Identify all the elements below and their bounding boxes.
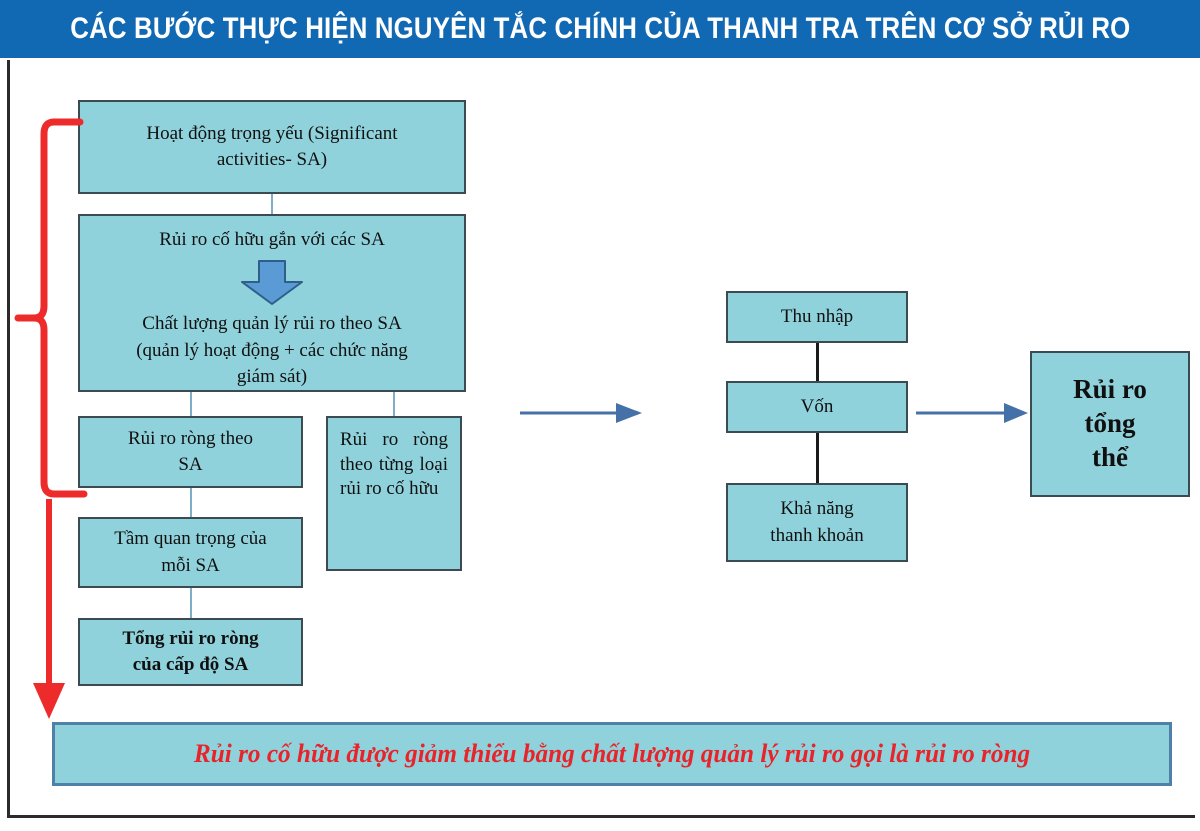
node-text: Thu nhập (781, 305, 853, 329)
node-line: Khả năng (780, 497, 853, 521)
node-net-risk-by-inherent-risk-type[interactable]: Rủi ro ròng theo từng loại rủi ro cố hữu (326, 416, 462, 571)
down-arrow-icon (239, 260, 305, 306)
connector-to-net-risk-type (393, 392, 395, 416)
node-liquidity[interactable]: Khả năng thanh khoản (726, 483, 908, 562)
node-line: SA (178, 453, 202, 477)
frame-bottom-border (7, 815, 1195, 818)
node-line: của cấp độ SA (133, 653, 249, 677)
node-line: Rủi ro ròng theo (128, 427, 253, 451)
node-inherent-risk-and-quality[interactable]: Rủi ro cố hữu gắn với các SA Chất lượng … (78, 214, 466, 392)
node-line: mỗi SA (161, 554, 220, 578)
title-banner: CÁC BƯỚC THỰC HIỆN NGUYÊN TẮC CHÍNH CỦA … (0, 0, 1200, 58)
node-line: Hoạt động trọng yếu (Significant (146, 122, 397, 146)
node-text: Rủi ro ròng theo từng loại rủi ro cố hữu (340, 429, 448, 499)
flow-arrow-left-to-right (520, 400, 644, 426)
node-line: thể (1092, 442, 1128, 474)
node-line: Rủi ro cố hữu gắn với các SA (159, 228, 385, 252)
frame-left-border (7, 60, 10, 818)
connector-to-net-risk-sa (190, 392, 192, 416)
node-importance-of-each-sa[interactable]: Tầm quan trọng của mỗi SA (78, 517, 303, 588)
connector-importance-to-total (190, 588, 192, 618)
red-grouping-brace (14, 110, 94, 510)
diagram-page: CÁC BƯỚC THỰC HIỆN NGUYÊN TẮC CHÍNH CỦA … (0, 0, 1200, 831)
node-text: Vốn (801, 395, 834, 419)
node-line: giám sát) (237, 365, 307, 389)
red-flow-arrow-down (28, 495, 72, 723)
node-total-net-risk-sa-level[interactable]: Tổng rủi ro ròng của cấp độ SA (78, 618, 303, 686)
connector-capital-to-liquidity (816, 433, 819, 483)
node-line: Tầm quan trọng của (114, 527, 266, 551)
node-line: tổng (1084, 408, 1135, 440)
footer-banner-text: Rủi ro cố hữu được giảm thiểu bằng chất … (194, 739, 1030, 769)
node-line: Tổng rủi ro ròng (122, 627, 258, 651)
node-line: Chất lượng quản lý rủi ro theo SA (142, 312, 401, 336)
node-capital[interactable]: Vốn (726, 381, 908, 433)
node-line: activities- SA) (217, 148, 327, 172)
node-overall-risk[interactable]: Rủi ro tổng thể (1030, 351, 1190, 497)
connector-income-to-capital (816, 343, 819, 381)
flow-arrow-to-overall-risk (916, 400, 1030, 426)
footer-banner[interactable]: Rủi ro cố hữu được giảm thiểu bằng chất … (52, 722, 1172, 786)
node-net-risk-by-sa[interactable]: Rủi ro ròng theo SA (78, 416, 303, 488)
node-line: thanh khoản (770, 524, 863, 548)
connector-sa-to-inherent (271, 194, 273, 214)
node-line: Rủi ro (1073, 374, 1147, 406)
connector-net-risk-to-importance (190, 488, 192, 517)
node-significant-activities[interactable]: Hoạt động trọng yếu (Significant activit… (78, 100, 466, 194)
node-income[interactable]: Thu nhập (726, 291, 908, 343)
node-line: (quản lý hoạt động + các chức năng (136, 339, 408, 363)
page-title: CÁC BƯỚC THỰC HIỆN NGUYÊN TẮC CHÍNH CỦA … (70, 12, 1130, 46)
